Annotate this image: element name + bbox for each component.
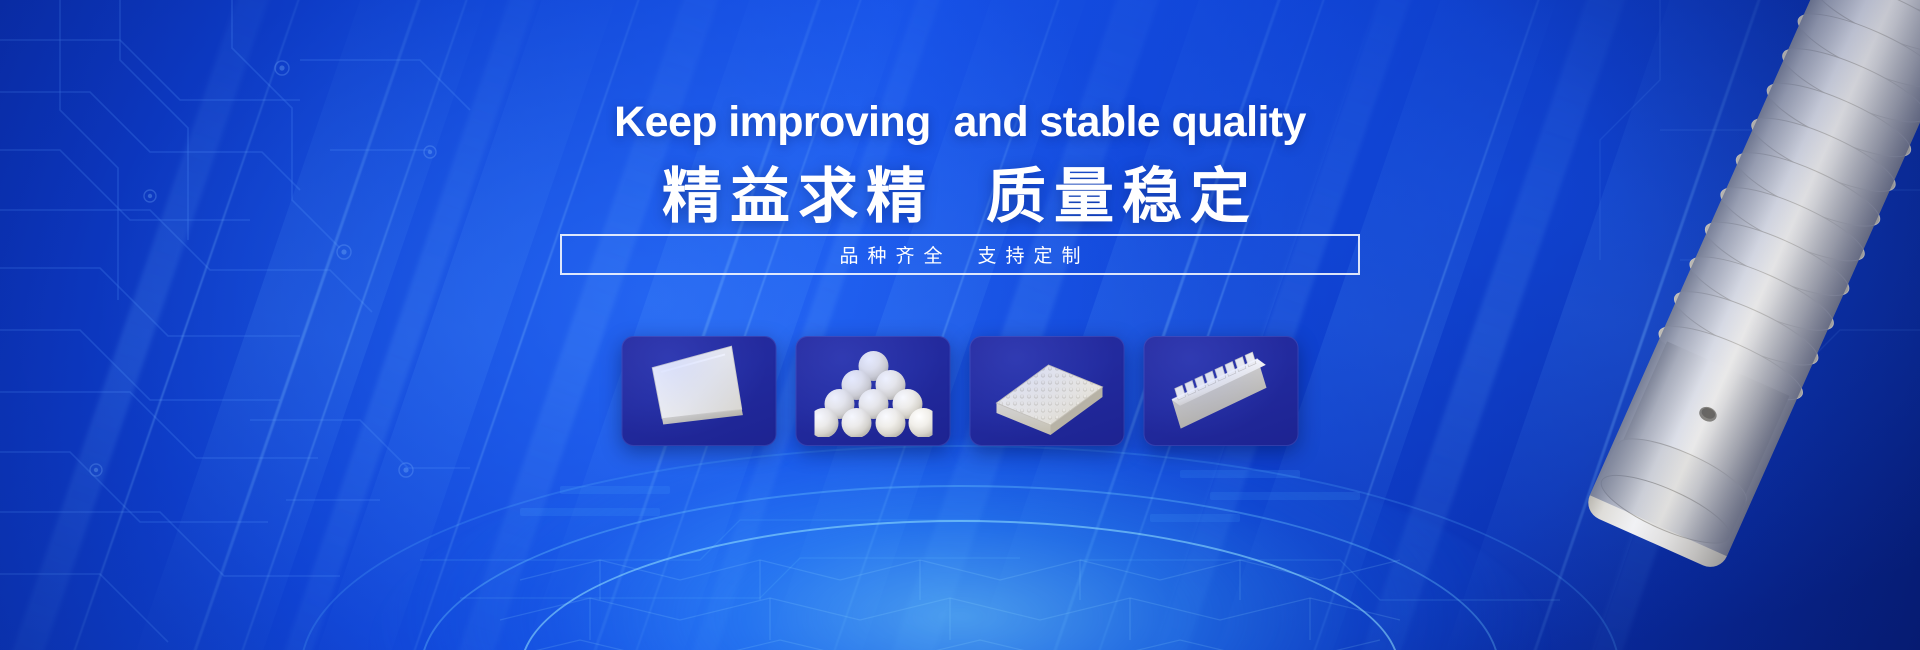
headline-chinese: 精益求精质量稳定 — [662, 148, 1258, 235]
product-card-ceramic-lining[interactable] — [1144, 336, 1299, 446]
banner-content: Keep improving and stable quality 精益求精质量… — [0, 0, 1920, 650]
subtitle-left: 品种齐全 — [839, 245, 951, 267]
headline-english: Keep improving and stable quality — [614, 98, 1306, 147]
headline-english-tail: and stable quality — [953, 98, 1305, 146]
product-card-list — [622, 336, 1299, 446]
honeycomb-ceramic-icon — [986, 345, 1108, 437]
subtitle-box: 品种齐全支持定制 — [560, 234, 1360, 275]
headline-english-lead: Keep improving — [614, 98, 931, 146]
ceramic-balls-icon — [814, 345, 932, 437]
headline-chinese-right: 质量稳定 — [986, 162, 1258, 232]
ceramic-tile-icon — [639, 345, 759, 437]
subtitle-text: 品种齐全支持定制 — [830, 241, 1089, 268]
headline-chinese-left: 精益求精 — [662, 162, 934, 232]
product-card-ceramic-balls[interactable] — [796, 336, 951, 446]
product-card-ceramic-tile[interactable] — [622, 336, 777, 446]
product-banner: Keep improving and stable quality 精益求精质量… — [0, 0, 1920, 650]
product-card-honeycomb-ceramic[interactable] — [970, 336, 1125, 446]
subtitle-right: 支持定制 — [978, 245, 1090, 267]
ceramic-lining-icon — [1161, 345, 1281, 437]
